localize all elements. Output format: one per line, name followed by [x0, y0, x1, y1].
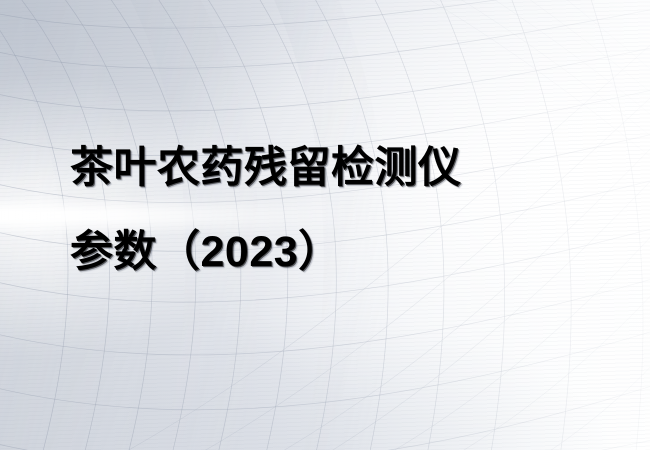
banner-title-line-2: 参数（2023）	[70, 210, 610, 294]
banner-title: 茶叶农药残留检测仪 参数（2023）	[70, 126, 610, 294]
banner-image: 茶叶农药残留检测仪 参数（2023）	[0, 0, 650, 450]
banner-title-line-1: 茶叶农药残留检测仪	[70, 126, 610, 210]
